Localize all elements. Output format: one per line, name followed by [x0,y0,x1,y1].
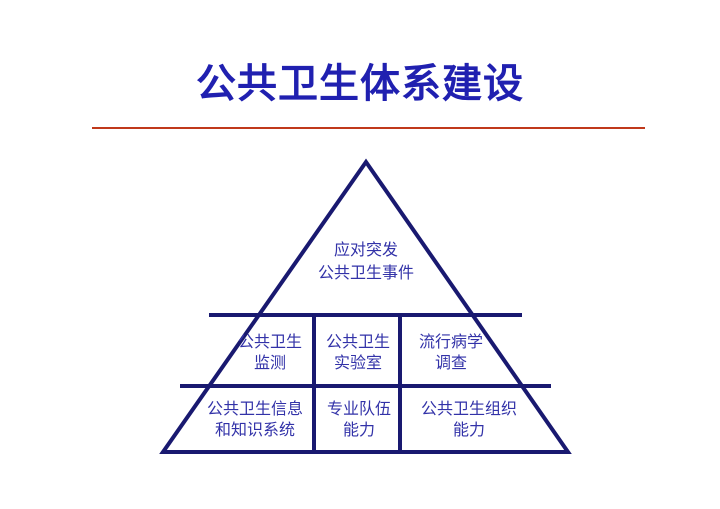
pyramid-diagram: 应对突发 公共卫生事件 公共卫生 监测 公共卫生 实验室 流行病学 调查 公共卫… [0,0,720,509]
pyramid-cell-bottom-2: 专业队伍 能力 [318,398,400,440]
pyramid-cell-middle-2: 公共卫生 实验室 [316,331,400,373]
pyramid-cell-bottom-3: 公共卫生组织 能力 [404,398,534,440]
pyramid-cell-middle-1: 公共卫生 监测 [228,331,312,373]
pyramid-cell-bottom-1: 公共卫生信息 和知识系统 [196,398,314,440]
pyramid-cell-middle-3: 流行病学 调查 [404,331,498,373]
pyramid-cell-apex: 应对突发 公共卫生事件 [286,238,446,284]
slide-canvas: 公共卫生体系建设 应对突发 公共卫生事件 公共卫生 监测 公共卫生 实验室 流行… [0,0,720,509]
